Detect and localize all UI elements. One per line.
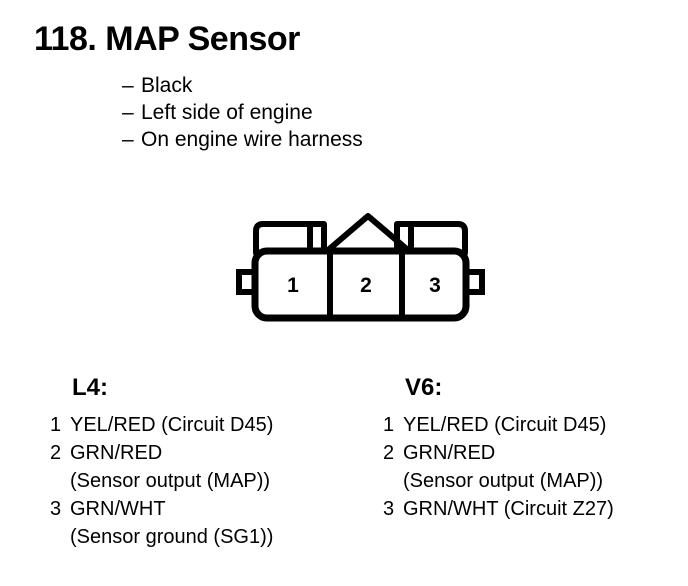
- dash-icon: –: [122, 128, 141, 152]
- pin-wire-label: YEL/RED (Circuit D45): [70, 414, 273, 437]
- column-heading-v6: V6:: [405, 374, 614, 414]
- pinout-column-v6: V6: 1 YEL/RED (Circuit D45) 2 GRN/RED (S…: [383, 374, 614, 526]
- pin-wire-label: GRN/RED: [70, 442, 162, 465]
- pin-row: 2 GRN/RED: [383, 442, 614, 470]
- cavity-number-1: 1: [287, 274, 299, 297]
- list-item: – Left side of engine: [122, 101, 363, 128]
- pin-detail-label: (Sensor output (MAP)): [70, 470, 273, 498]
- list-item: – Black: [122, 74, 363, 101]
- pin-row: 1 YEL/RED (Circuit D45): [383, 414, 614, 442]
- pinout-column-l4: L4: 1 YEL/RED (Circuit D45) 2 GRN/RED (S…: [50, 374, 273, 554]
- pin-row: 3 GRN/WHT (Circuit Z27): [383, 498, 614, 526]
- cavity-number-3: 3: [429, 274, 441, 297]
- page-title: 118. MAP Sensor: [34, 20, 300, 59]
- cavity-number-2: 2: [360, 274, 372, 297]
- dash-icon: –: [122, 101, 141, 125]
- list-item-label: On engine wire harness: [141, 128, 363, 152]
- pin-number: 2: [50, 442, 70, 465]
- pin-number: 3: [383, 498, 403, 521]
- pin-number: 2: [383, 442, 403, 465]
- list-item-label: Left side of engine: [141, 101, 313, 125]
- list-item-label: Black: [141, 74, 192, 98]
- column-heading-l4: L4:: [72, 374, 273, 414]
- pin-number: 3: [50, 498, 70, 521]
- pin-wire-label: GRN/WHT (Circuit Z27): [403, 498, 614, 521]
- pin-detail-label: (Sensor ground (SG1)): [70, 526, 273, 554]
- pin-wire-label: GRN/RED: [403, 442, 495, 465]
- pin-row: 3 GRN/WHT: [50, 498, 273, 526]
- pin-wire-label: YEL/RED (Circuit D45): [403, 414, 606, 437]
- list-item: – On engine wire harness: [122, 128, 363, 155]
- pin-detail-label: (Sensor output (MAP)): [403, 470, 614, 498]
- pin-row: 2 GRN/RED: [50, 442, 273, 470]
- pin-wire-label: GRN/WHT: [70, 498, 166, 521]
- sensor-notes-list: – Black – Left side of engine – On engin…: [122, 74, 363, 155]
- pin-number: 1: [383, 414, 403, 437]
- map-sensor-page: 118. MAP Sensor – Black – Left side of e…: [0, 0, 688, 586]
- pin-row: 1 YEL/RED (Circuit D45): [50, 414, 273, 442]
- connector-diagram: 1 2 3: [228, 203, 493, 333]
- dash-icon: –: [122, 74, 141, 98]
- pin-number: 1: [50, 414, 70, 437]
